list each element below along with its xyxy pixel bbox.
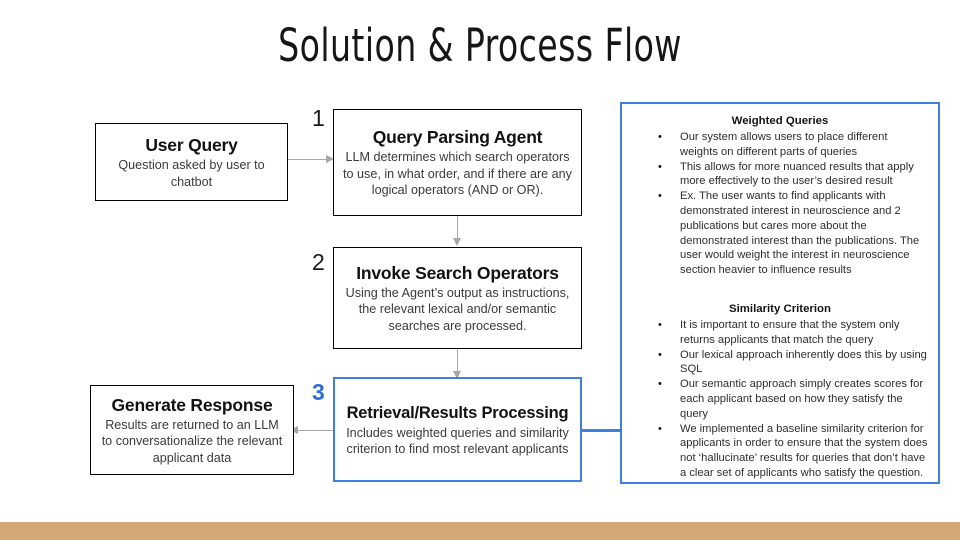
flow-box-retrieval-results-processing-desc: Includes weighted queries and similarity…: [342, 425, 573, 458]
flow-box-user-query-desc: Question asked by user to chatbot: [103, 157, 280, 190]
panel-heading-similarity-criterion: Similarity Criterion: [632, 302, 928, 317]
connector-retrieval-to-generate: [294, 430, 336, 431]
arrowhead-parsing-to-invoke: [453, 238, 461, 246]
step-number-2: 2: [312, 249, 325, 275]
flow-box-invoke-search-operators[interactable]: Invoke Search Operators Using the Agent’…: [333, 247, 582, 349]
panel-section-divider: [632, 278, 928, 302]
list-item-text: Our lexical approach inherently does thi…: [680, 349, 927, 376]
connector-userquery-to-parsing: [288, 159, 330, 160]
list-item: • We implemented a baseline similarity c…: [632, 422, 928, 481]
list-item: • Our lexical approach inherently does t…: [632, 348, 928, 378]
flow-box-retrieval-results-processing[interactable]: Retrieval/Results Processing Includes we…: [333, 377, 582, 482]
list-item-text: This allows for more nuanced results tha…: [680, 161, 914, 188]
panel-list-weighted-queries: • Our system allows users to place diffe…: [632, 130, 928, 278]
list-item-text: We implemented a baseline similarity cri…: [680, 423, 928, 479]
flow-box-generate-response-desc: Results are returned to an LLM to conver…: [98, 417, 286, 467]
list-item: • It is important to ensure that the sys…: [632, 318, 928, 348]
list-item: • Ex. The user wants to find applicants …: [632, 189, 928, 278]
flow-box-query-parsing-agent[interactable]: Query Parsing Agent LLM determines which…: [333, 109, 582, 216]
page-title: Solution & Process Flow: [86, 18, 873, 74]
list-item: • This allows for more nuanced results t…: [632, 160, 928, 190]
flow-box-generate-response-title: Generate Response: [112, 394, 273, 416]
step-number-3: 3: [312, 379, 325, 405]
list-item: • Our semantic approach simply creates s…: [632, 377, 928, 421]
flow-box-invoke-search-operators-title: Invoke Search Operators: [356, 262, 559, 284]
flow-box-retrieval-results-processing-title: Retrieval/Results Processing: [347, 402, 569, 424]
slide-canvas: Solution & Process Flow 1 2 3 User Query…: [0, 0, 960, 540]
flow-box-user-query-title: User Query: [145, 134, 237, 156]
bullet-icon: •: [658, 377, 662, 392]
flow-box-user-query[interactable]: User Query Question asked by user to cha…: [95, 123, 288, 201]
flow-box-generate-response[interactable]: Generate Response Results are returned t…: [90, 385, 294, 475]
flow-box-query-parsing-agent-desc: LLM determines which search operators to…: [341, 149, 574, 199]
list-item-text: Ex. The user wants to find applicants wi…: [680, 190, 919, 276]
list-item-text: Our semantic approach simply creates sco…: [680, 378, 923, 420]
panel-list-similarity-criterion: • It is important to ensure that the sys…: [632, 318, 928, 481]
bullet-icon: •: [658, 189, 662, 204]
bullet-icon: •: [658, 422, 662, 437]
bullet-icon: •: [658, 318, 662, 333]
list-item-text: Our system allows users to place differe…: [680, 131, 887, 158]
list-item: • Our system allows users to place diffe…: [632, 130, 928, 160]
list-item-text: It is important to ensure that the syste…: [680, 319, 900, 346]
flow-box-invoke-search-operators-desc: Using the Agent’s output as instructions…: [341, 285, 574, 335]
bullet-icon: •: [658, 160, 662, 175]
connector-retrieval-to-panel: [580, 429, 623, 432]
bullet-icon: •: [658, 348, 662, 363]
bullet-icon: •: [658, 130, 662, 145]
flow-box-query-parsing-agent-title: Query Parsing Agent: [373, 126, 543, 148]
panel-heading-weighted-queries: Weighted Queries: [632, 114, 928, 129]
step-number-1: 1: [312, 105, 325, 131]
info-panel[interactable]: Weighted Queries • Our system allows use…: [620, 102, 940, 484]
bottom-accent-bar: [0, 522, 960, 540]
